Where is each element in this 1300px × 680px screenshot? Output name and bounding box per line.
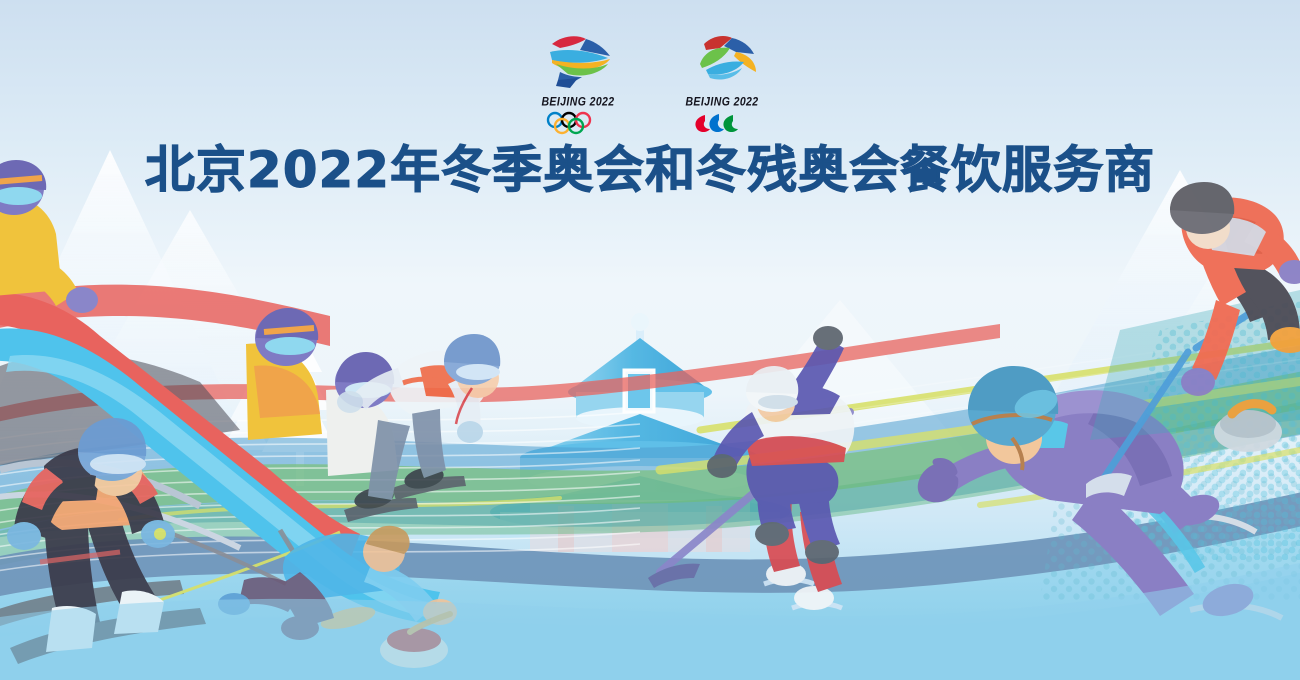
paralympic-emblem[interactable]: BEIJING 2022 <box>668 30 776 135</box>
olympic-wordmark: BEIJING 2022 <box>524 95 632 108</box>
paralympic-wordmark: BEIJING 2022 <box>668 95 776 108</box>
olympic-rings-icon <box>543 111 613 135</box>
emblem-row: BEIJING 2022 BEIJING 20 <box>0 30 1300 135</box>
flying-high-figure-icon <box>674 30 770 94</box>
banner-title: 北京2022年冬季奥会和冬残奥会餐饮服务商 <box>145 144 1155 196</box>
banner-title-wrap: 北京2022年冬季奥会和冬残奥会餐饮服务商 <box>0 144 1300 196</box>
olympics-banner: BEIJING 2022 BEIJING 20 <box>0 0 1300 680</box>
olympic-emblem[interactable]: BEIJING 2022 <box>524 30 632 135</box>
agitos-icon <box>691 111 753 135</box>
winter-dream-figure-icon <box>530 30 626 94</box>
